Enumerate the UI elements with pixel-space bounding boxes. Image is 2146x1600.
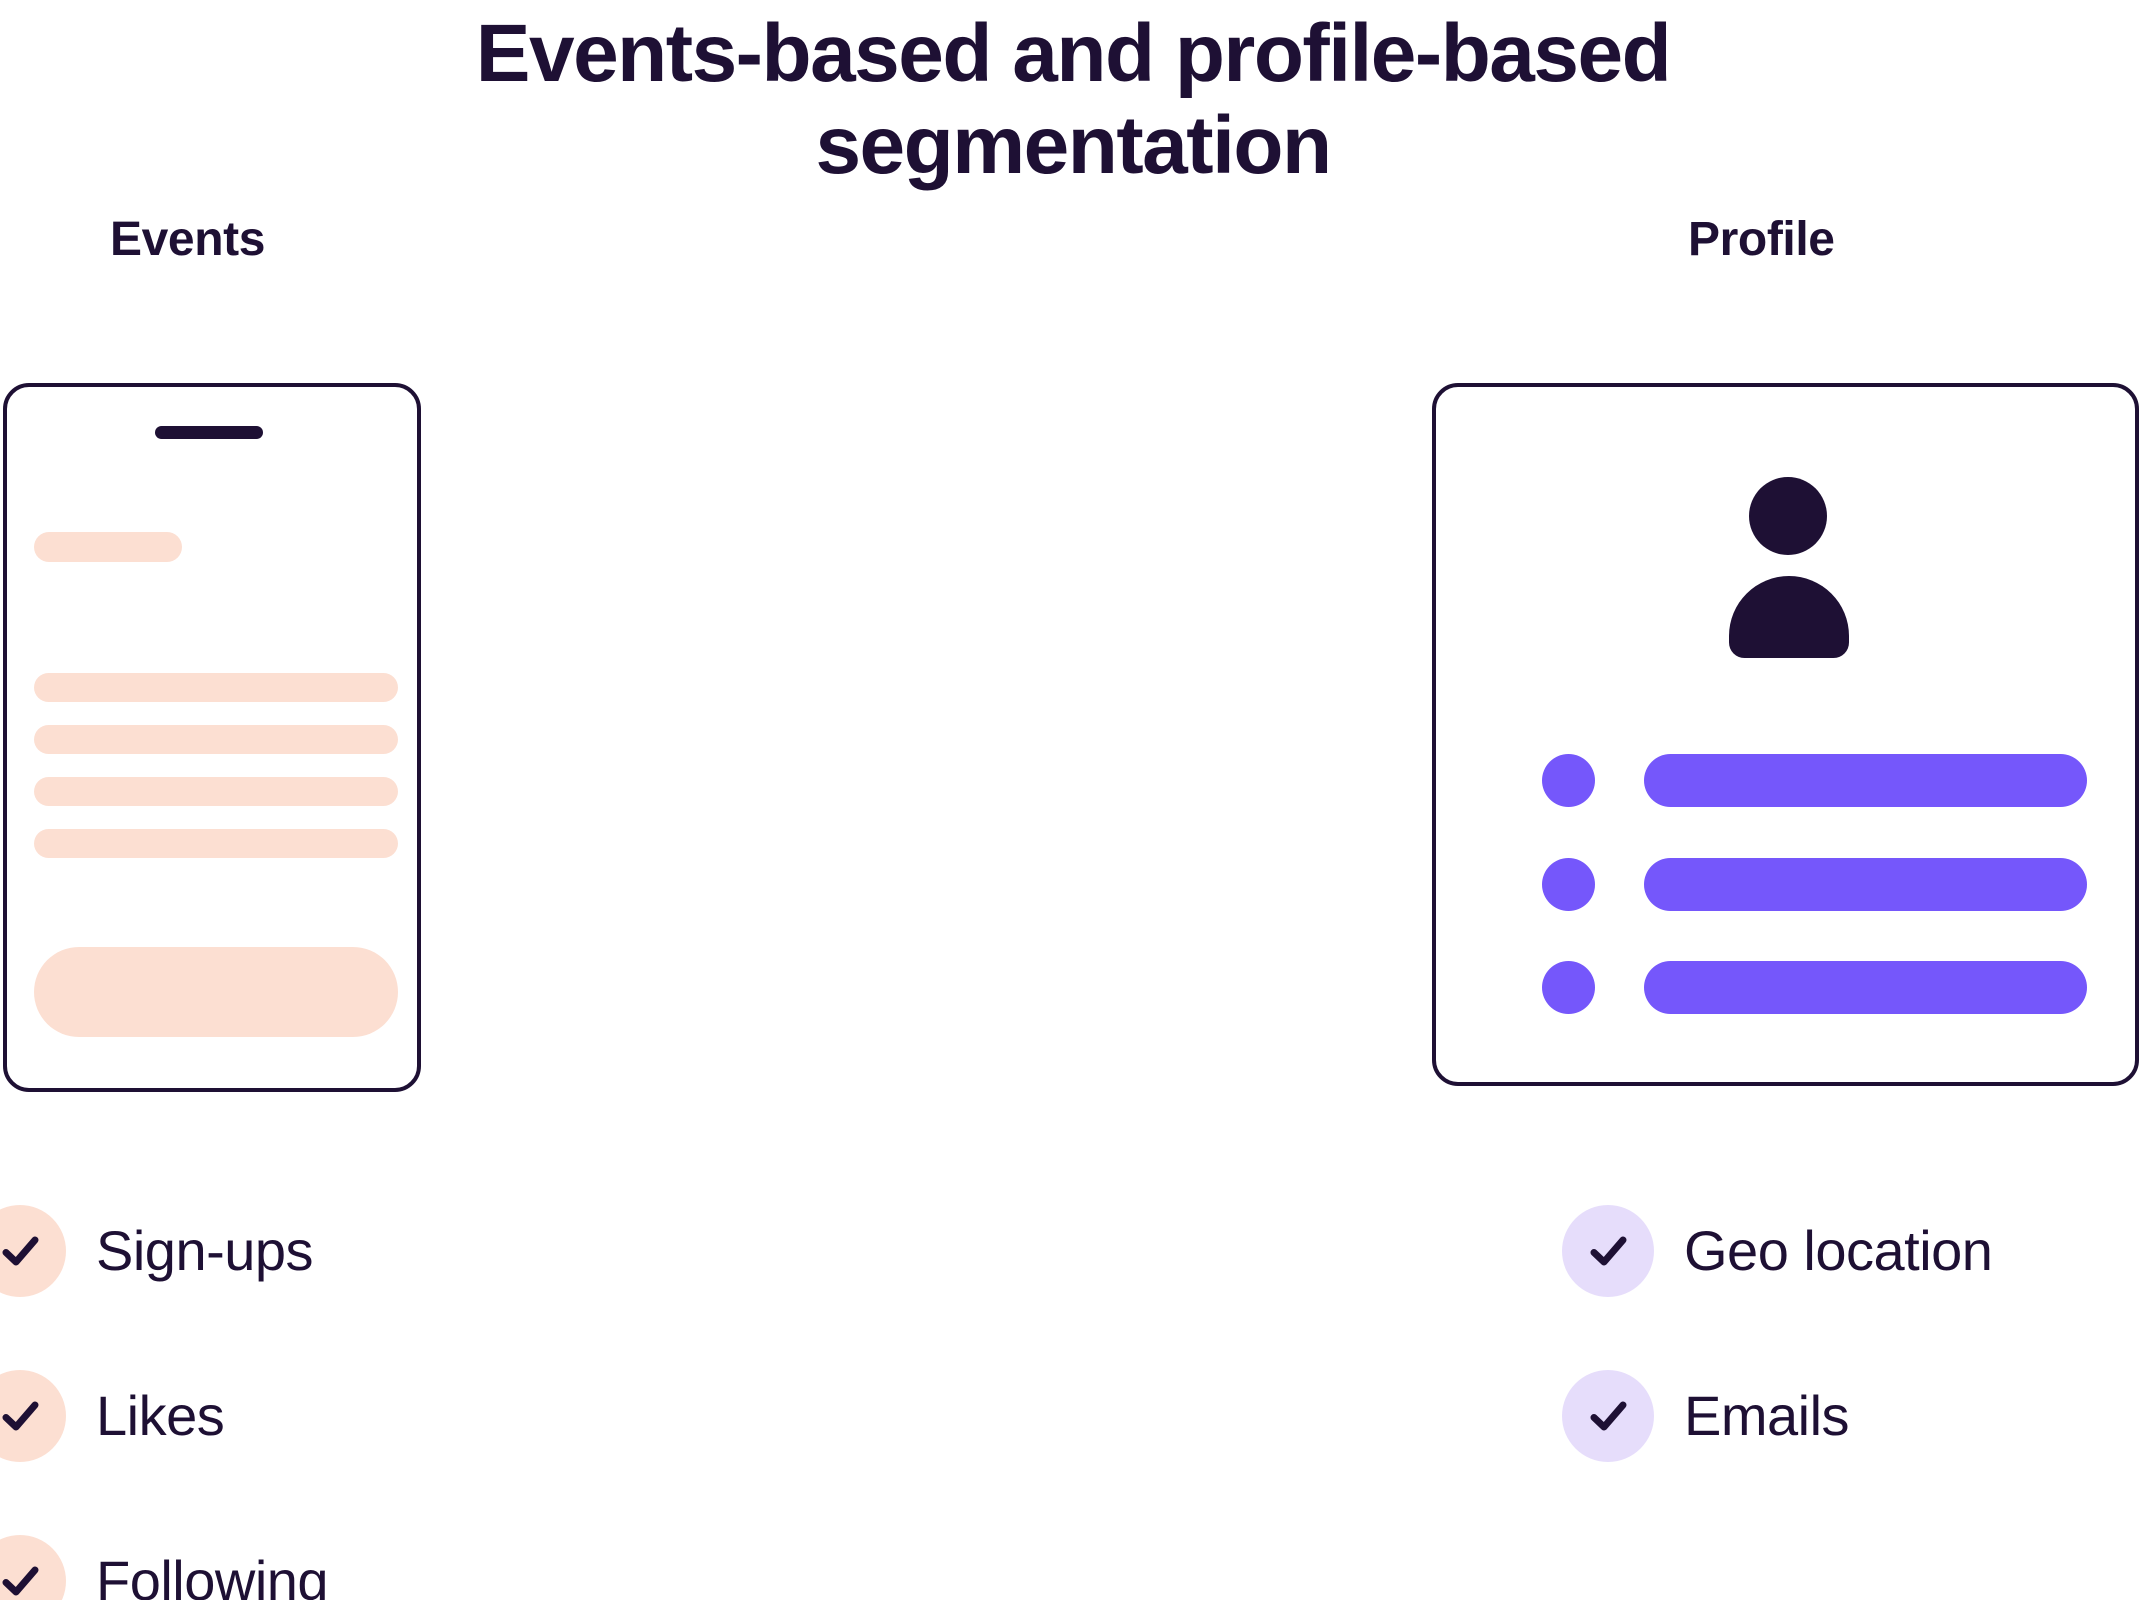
skeleton-row-placeholder-4 (34, 829, 398, 858)
events-phone-mockup (3, 383, 421, 1092)
events-feature-list: Sign-ups Likes Following (0, 1168, 328, 1600)
page-title: Events-based and profile-based segmentat… (0, 8, 2146, 192)
attribute-value-bar-1 (1644, 754, 2087, 807)
list-item-label: Following (96, 1548, 328, 1600)
list-item-sign-ups[interactable]: Sign-ups (0, 1168, 328, 1333)
profile-card-mockup (1432, 383, 2139, 1086)
attribute-bullet-dot-1 (1542, 754, 1595, 807)
list-item-likes[interactable]: Likes (0, 1333, 328, 1498)
slide-canvas: Events-based and profile-based segmentat… (0, 0, 2146, 1600)
profile-feature-list: Geo location Emails (1562, 1168, 1992, 1498)
list-item-label: Sign-ups (96, 1218, 313, 1283)
skeleton-row-placeholder-1 (34, 673, 398, 702)
attribute-bullet-dot-2 (1542, 858, 1595, 911)
skeleton-block-placeholder (34, 947, 398, 1037)
check-icon (0, 1370, 66, 1462)
list-item-geo-location[interactable]: Geo location (1562, 1168, 1992, 1333)
skeleton-row-placeholder-3 (34, 777, 398, 806)
check-icon (0, 1535, 66, 1600)
attribute-bullet-dot-3 (1542, 961, 1595, 1014)
list-item-label: Emails (1684, 1383, 1849, 1448)
list-item-label: Likes (96, 1383, 224, 1448)
check-icon (1562, 1370, 1654, 1462)
attribute-value-bar-2 (1644, 858, 2087, 911)
phone-notch-bar (155, 426, 263, 439)
column-heading-events: Events (110, 212, 265, 267)
skeleton-row-placeholder-2 (34, 725, 398, 754)
list-item-emails[interactable]: Emails (1562, 1333, 1992, 1498)
skeleton-title-placeholder (34, 532, 182, 562)
list-item-label: Geo location (1684, 1218, 1992, 1283)
column-heading-profile: Profile (1688, 212, 1835, 267)
person-avatar-icon (1749, 477, 1827, 555)
check-icon (0, 1205, 66, 1297)
person-avatar-body-icon (1729, 576, 1849, 658)
attribute-value-bar-3 (1644, 961, 2087, 1014)
list-item-following[interactable]: Following (0, 1498, 328, 1600)
check-icon (1562, 1205, 1654, 1297)
